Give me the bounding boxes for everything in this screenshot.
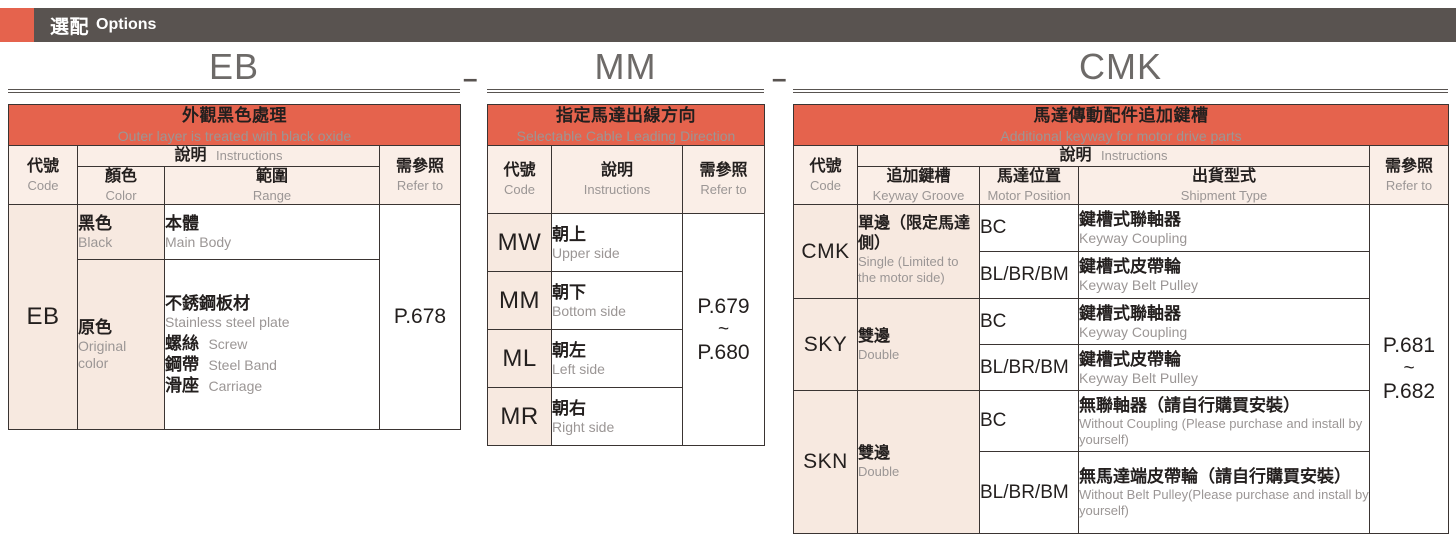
table-eb-th-instructions: 說明 Instructions (78, 146, 380, 167)
table-mm-desc-zh-2: 朝左 (552, 340, 682, 361)
table-cmk-shipment-zh-2-1: 無馬達端皮帶輪（請自行購買安裝） (1079, 466, 1369, 487)
page-banner: 選配 Options (0, 8, 1456, 42)
table-cmk-shipment-cell-2-0: 無聯軸器（請自行購買安裝） Without Coupling (Please p… (1079, 391, 1370, 452)
range-entry: 鋼帶 Steel Band (165, 354, 379, 375)
table-mm: 指定馬達出線方向 Selectable Cable Leading Direct… (487, 104, 765, 446)
section-title-eb-text: EB (8, 47, 460, 87)
table-eb-th-range-en: Range (165, 187, 379, 204)
table-cmk-th-motorpos: 馬達位置 Motor Position (980, 167, 1079, 205)
table-eb-th-code-zh: 代號 (9, 157, 77, 177)
table-cmk-motorpos-2-1: BL/BR/BM (980, 452, 1079, 534)
range-entry: 不銹鋼板材 Stainless steel plate (165, 293, 379, 331)
table-eb-th-color: 顏色 Color (78, 167, 165, 205)
table-cmk-refer-tilde: ~ (1370, 359, 1448, 379)
table-cmk-keyway-zh-0: 單邊（限定馬達側） (858, 214, 979, 254)
table-mm-code-cell-1: MM (488, 272, 552, 330)
table-cmk-motorpos-0-1: BL/BR/BM (980, 252, 1079, 299)
range-entry: 螺絲 Screw (165, 333, 379, 354)
table-cmk-shipment-en-1-1: Keyway Belt Pulley (1079, 370, 1369, 387)
table-cmk-motorpos-2-0: BC (980, 391, 1079, 452)
table-mm-desc-cell-2: 朝左 Left side (552, 330, 683, 388)
table-mm-desc-en-0: Upper side (552, 245, 682, 262)
table-cmk-shipment-en-2-0: Without Coupling (Please purchase and in… (1079, 416, 1369, 448)
table-row: CMK 單邊（限定馬達側） Single (Limited to the mot… (794, 205, 1449, 252)
table-eb-color-en-1: Original color (78, 338, 142, 372)
table-cmk-th-refer-en: Refer to (1370, 177, 1448, 194)
table-mm-refer-tilde: ~ (683, 320, 764, 340)
table-mm-th-refer-zh: 需參照 (683, 161, 764, 181)
table-cmk-keyway-cell-0: 單邊（限定馬達側） Single (Limited to the motor s… (858, 205, 980, 299)
table-eb: 外觀黑色處理 Outer layer is treated with black… (8, 104, 461, 430)
table-mm-desc-cell-1: 朝下 Bottom side (552, 272, 683, 330)
table-cmk-code-cell-0: CMK (794, 205, 858, 299)
section-title-cmk-text: CMK (793, 47, 1448, 87)
table-mm-th-code-zh: 代號 (488, 161, 551, 181)
table-mm-th-instructions-en: Instructions (552, 181, 682, 198)
table-cmk-th-code-en: Code (794, 177, 857, 194)
table-cmk-refer-top: P.681 (1383, 334, 1435, 357)
table-cmk: 馬達傳動配件追加鍵槽 Additional keyway for motor d… (793, 104, 1449, 534)
table-cmk-motorpos-1-0: BC (980, 299, 1079, 345)
table-cmk-keyway-zh-2: 雙邊 (858, 444, 979, 464)
table-cmk-shipment-cell-2-1: 無馬達端皮帶輪（請自行購買安裝） Without Belt Pulley(Ple… (1079, 452, 1370, 534)
table-eb-th-color-zh: 顏色 (78, 167, 164, 187)
table-cmk-keyway-en-1: Double (858, 347, 979, 363)
table-eb-range-en-1-2: Steel Band (208, 357, 277, 373)
table-eb-range-zh-1-0: 不銹鋼板材 (165, 293, 379, 314)
banner-title-en: Options (96, 16, 156, 34)
table-eb-caption-zh: 外觀黑色處理 (9, 105, 460, 127)
table-cmk-shipment-zh-1-0: 鍵槽式聯軸器 (1079, 303, 1369, 324)
table-cmk-th-shipment-en: Shipment Type (1079, 187, 1369, 204)
table-cmk-shipment-cell-0-0: 鍵槽式聯軸器 Keyway Coupling (1079, 205, 1370, 252)
table-mm-desc-zh-3: 朝右 (552, 398, 682, 419)
table-mm-caption-en: Selectable Cable Leading Direction (488, 127, 764, 145)
table-cmk-th-refer: 需參照 Refer to (1370, 146, 1449, 205)
table-eb-th-refer-en: Refer to (380, 177, 460, 194)
table-eb-header-row-1: 代號 Code 說明 Instructions 需參照 Refer to (9, 146, 461, 167)
section-title-mm: MM (487, 47, 764, 93)
table-eb-range-en-1-0: Stainless steel plate (165, 314, 379, 331)
table-cmk-caption-row: 馬達傳動配件追加鍵槽 Additional keyway for motor d… (794, 105, 1449, 146)
section-title-eb-rule (8, 89, 460, 93)
table-cmk-th-shipment: 出貨型式 Shipment Type (1079, 167, 1370, 205)
table-eb-range-en-1-1: Screw (208, 336, 247, 352)
range-entry: 本體 Main Body (165, 213, 379, 251)
table-eb-color-zh-0: 黑色 (78, 213, 164, 234)
banner-title-zh: 選配 (50, 12, 89, 39)
banner-bar: 選配 Options (34, 8, 1456, 42)
table-cmk-keyway-cell-2: 雙邊 Double (858, 391, 980, 534)
table-cmk-keyway-cell-1: 雙邊 Double (858, 299, 980, 391)
table-cmk-th-instructions-zh: 說明 (1060, 147, 1092, 164)
table-mm-refer-cell: P.679 ~ P.680 (683, 214, 765, 446)
section-title-mm-rule (487, 89, 764, 93)
table-cmk-shipment-en-0-1: Keyway Belt Pulley (1079, 277, 1369, 294)
table-row: MW 朝上 Upper side P.679 ~ P.680 (488, 214, 765, 272)
table-mm-caption-zh: 指定馬達出線方向 (488, 105, 764, 127)
table-cmk-th-refer-zh: 需參照 (1370, 157, 1448, 177)
table-cmk-th-keyway-en: Keyway Groove (858, 187, 979, 204)
table-cmk-refer-cell: P.681 ~ P.682 (1370, 205, 1449, 534)
table-cmk-th-motorpos-zh: 馬達位置 (980, 167, 1078, 187)
table-mm-th-refer-en: Refer to (683, 181, 764, 198)
table-cmk-shipment-zh-1-1: 鍵槽式皮帶輪 (1079, 349, 1369, 370)
table-eb-caption-row: 外觀黑色處理 Outer layer is treated with black… (9, 105, 461, 146)
table-row: SKY 雙邊 Double BC 鍵槽式聯軸器 Keyway Coupling (794, 299, 1449, 345)
table-cmk-th-motorpos-en: Motor Position (980, 187, 1078, 204)
table-mm-desc-en-1: Bottom side (552, 303, 682, 320)
table-cmk-shipment-cell-0-1: 鍵槽式皮帶輪 Keyway Belt Pulley (1079, 252, 1370, 299)
table-eb-color-cell-0: 黑色 Black (78, 205, 165, 260)
table-eb-th-color-en: Color (78, 187, 164, 204)
table-eb-range-en-1-3: Carriage (208, 378, 262, 394)
table-eb-color-cell-1: 原色 Original color (78, 260, 165, 430)
table-eb-range-cell-1: 不銹鋼板材 Stainless steel plate 螺絲 Screw 鋼帶 … (165, 260, 380, 430)
table-cmk-code-cell-1: SKY (794, 299, 858, 391)
table-cmk-th-keyway: 追加鍵槽 Keyway Groove (858, 167, 980, 205)
table-cmk-shipment-cell-1-1: 鍵槽式皮帶輪 Keyway Belt Pulley (1079, 345, 1370, 391)
table-cmk-caption: 馬達傳動配件追加鍵槽 Additional keyway for motor d… (794, 105, 1449, 146)
table-eb-range-zh-0-0: 本體 (165, 213, 379, 234)
table-mm-code-cell-3: MR (488, 388, 552, 446)
table-cmk-motorpos-1-1: BL/BR/BM (980, 345, 1079, 391)
table-cmk-th-code-zh: 代號 (794, 157, 857, 177)
table-cmk-keyway-en-2: Double (858, 464, 979, 480)
table-eb-th-code-en: Code (9, 177, 77, 194)
table-eb-range-zh-1-1: 螺絲 (165, 334, 199, 353)
table-mm-desc-en-2: Left side (552, 361, 682, 378)
table-eb-refer-cell: P.678 (380, 205, 461, 430)
table-cmk-th-shipment-zh: 出貨型式 (1079, 167, 1369, 187)
table-mm-desc-zh-1: 朝下 (552, 282, 682, 303)
table-mm-code-cell-2: ML (488, 330, 552, 388)
section-title-cmk-rule (793, 89, 1448, 93)
table-cmk-code-cell-2: SKN (794, 391, 858, 534)
table-eb-color-zh-1: 原色 (78, 317, 164, 338)
table-cmk-caption-en: Additional keyway for motor drive parts (794, 127, 1448, 145)
table-mm-th-instructions: 說明 Instructions (552, 146, 683, 214)
table-cmk-th-instructions: 說明 Instructions (858, 146, 1370, 167)
table-cmk-shipment-en-0-0: Keyway Coupling (1079, 230, 1369, 247)
separator-dash-1: – (463, 73, 477, 83)
table-cmk-shipment-zh-0-1: 鍵槽式皮帶輪 (1079, 256, 1369, 277)
table-cmk-shipment-cell-1-0: 鍵槽式聯軸器 Keyway Coupling (1079, 299, 1370, 345)
table-mm-th-refer: 需參照 Refer to (683, 146, 765, 214)
table-cmk-shipment-en-1-0: Keyway Coupling (1079, 324, 1369, 341)
table-eb-th-refer: 需參照 Refer to (380, 146, 461, 205)
table-mm-caption-row: 指定馬達出線方向 Selectable Cable Leading Direct… (488, 105, 765, 146)
range-entry: 滑座 Carriage (165, 375, 379, 396)
table-eb-caption: 外觀黑色處理 Outer layer is treated with black… (9, 105, 461, 146)
table-eb-range-zh-1-2: 鋼帶 (165, 355, 199, 374)
table-eb-color-en-0: Black (78, 234, 164, 251)
table-cmk-shipment-zh-0-0: 鍵槽式聯軸器 (1079, 209, 1369, 230)
section-title-eb: EB (8, 47, 460, 93)
table-mm-refer-bottom: P.680 (697, 341, 749, 364)
table-mm-desc-cell-3: 朝右 Right side (552, 388, 683, 446)
table-eb-range-cell-0: 本體 Main Body (165, 205, 380, 260)
table-eb-th-instructions-en: Instructions (216, 148, 282, 163)
table-eb-range-zh-1-3: 滑座 (165, 376, 199, 395)
table-eb-code-cell: EB (9, 205, 78, 430)
table-row: EB 黑色 Black 本體 Main Body P.678 (9, 205, 461, 260)
table-cmk-caption-zh: 馬達傳動配件追加鍵槽 (794, 105, 1448, 127)
separator-dash-2: – (772, 73, 786, 83)
table-mm-code-cell-0: MW (488, 214, 552, 272)
table-eb-th-code: 代號 Code (9, 146, 78, 205)
section-title-mm-text: MM (487, 47, 764, 87)
table-eb-caption-en: Outer layer is treated with black oxide (9, 127, 460, 145)
table-mm-desc-zh-0: 朝上 (552, 224, 682, 245)
table-mm-th-code-en: Code (488, 181, 551, 198)
banner-accent-block (0, 8, 34, 42)
table-cmk-shipment-en-2-1: Without Belt Pulley(Please purchase and … (1079, 487, 1369, 519)
table-mm-th-code: 代號 Code (488, 146, 552, 214)
table-cmk-keyway-en-0: Single (Limited to the motor side) (858, 254, 979, 286)
table-cmk-th-code: 代號 Code (794, 146, 858, 205)
section-title-cmk: CMK (793, 47, 1448, 93)
table-cmk-motorpos-0-0: BC (980, 205, 1079, 252)
table-cmk-header-row-2: 追加鍵槽 Keyway Groove 馬達位置 Motor Position 出… (794, 167, 1449, 205)
table-mm-header-row: 代號 Code 說明 Instructions 需參照 Refer to (488, 146, 765, 214)
table-eb-th-refer-zh: 需參照 (380, 157, 460, 177)
table-mm-th-instructions-zh: 說明 (552, 161, 682, 181)
table-mm-desc-en-3: Right side (552, 419, 682, 436)
table-mm-caption: 指定馬達出線方向 Selectable Cable Leading Direct… (488, 105, 765, 146)
table-eb-th-range: 範圍 Range (165, 167, 380, 205)
table-eb-range-en-0-0: Main Body (165, 234, 379, 251)
table-cmk-refer-bottom: P.682 (1383, 380, 1435, 403)
table-eb-th-instructions-zh: 說明 (175, 147, 207, 164)
table-mm-refer-top: P.679 (697, 295, 749, 318)
table-cmk-keyway-zh-1: 雙邊 (858, 327, 979, 347)
table-row: SKN 雙邊 Double BC 無聯軸器（請自行購買安裝） Without C… (794, 391, 1449, 452)
table-cmk-th-instructions-en: Instructions (1101, 148, 1167, 163)
table-cmk-th-keyway-zh: 追加鍵槽 (858, 167, 979, 187)
table-cmk-shipment-zh-2-0: 無聯軸器（請自行購買安裝） (1079, 395, 1369, 416)
table-eb-th-range-zh: 範圍 (165, 167, 379, 187)
table-cmk-header-row-1: 代號 Code 說明 Instructions 需參照 Refer to (794, 146, 1449, 167)
section-titles: EB – MM – CMK (0, 47, 1456, 99)
table-mm-desc-cell-0: 朝上 Upper side (552, 214, 683, 272)
